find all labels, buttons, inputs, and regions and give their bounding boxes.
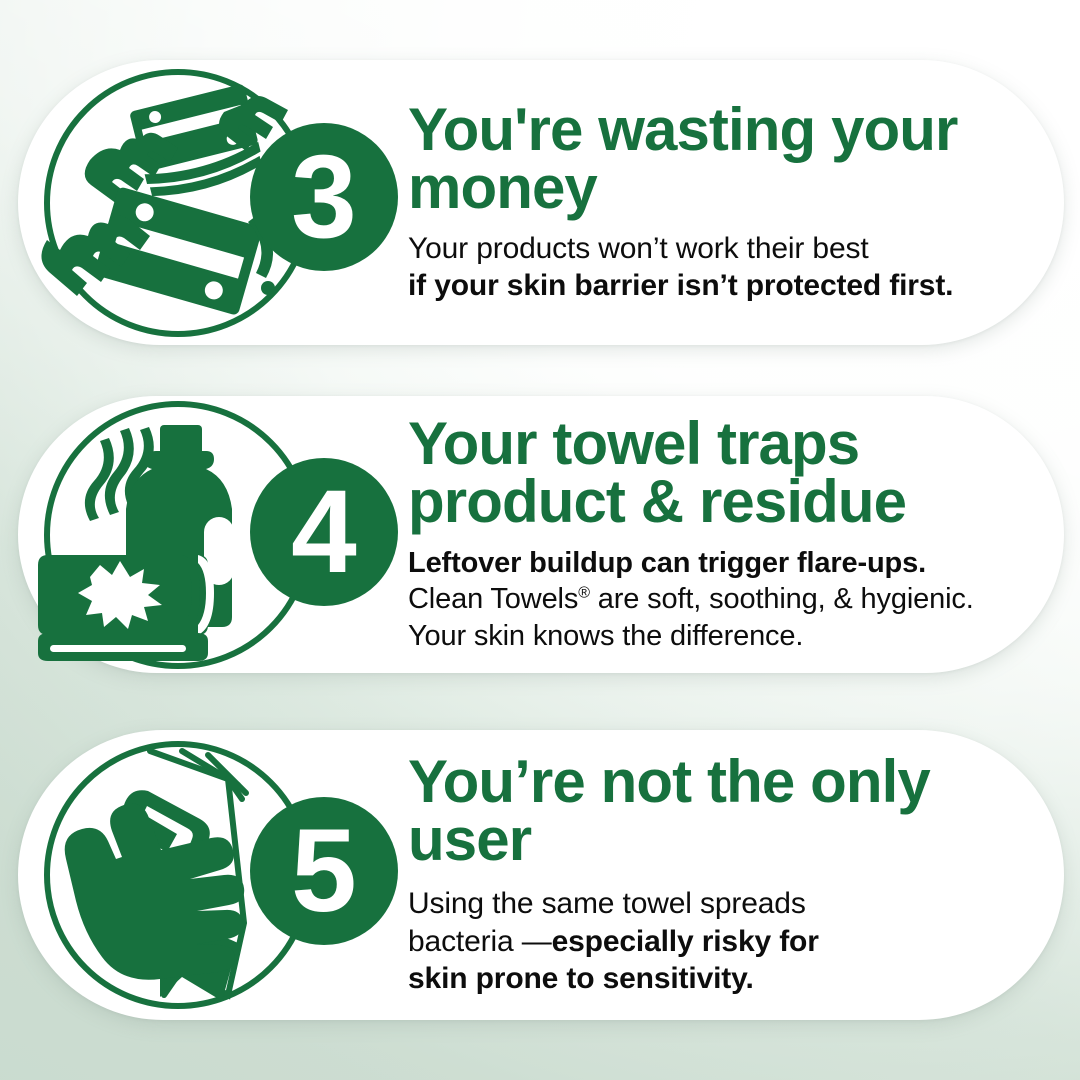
badge-number-3: 3 [291,131,357,263]
card-5-heading: You’re not the only user [408,753,1024,869]
registered-mark: ® [578,585,590,602]
heading-line: product & residue [408,468,906,535]
body-line-regular: bacteria — [408,925,552,958]
info-card-4: 4 Your towel traps product & residue Lef… [18,396,1064,673]
hands-dropping-money-icon: 3 [32,64,398,342]
body-line: Your products won’t work their best [408,231,1024,268]
body-line: Clean Towels® are soft, soothing, & hygi… [408,581,1024,618]
body-line: Leftover buildup can trigger flare-ups. [408,545,1024,582]
card-5-content: You’re not the only user Using the same … [398,753,1064,997]
medallion-5: 5 [32,730,398,1020]
medallion-3: 3 [32,60,398,345]
body-line: bacteria —especially risky for [408,923,1024,960]
card-3-content: You're wasting your money Your products … [398,101,1064,305]
heading-line: You're wasting [408,96,815,163]
card-4-body: Leftover buildup can trigger flare-ups. … [408,545,1024,655]
info-card-5: 5 You’re not the only user Using the sam… [18,730,1064,1020]
card-4-heading: Your towel traps product & residue [408,415,1024,531]
heading-line: You’re not [408,748,691,815]
detergent-bottle-stained-towel-odor-icon: 4 [32,399,398,671]
card-5-body: Using the same towel spreads bacteria —e… [408,885,1024,997]
body-line-post: are soft, soothing, & hygienic. [590,583,974,615]
badge-number-4: 4 [291,466,357,598]
infographic-canvas: 3 You're wasting your money Your product… [0,0,1080,1080]
heading-line: Your towel traps [408,410,859,477]
body-line: skin prone to sensitivity. [408,960,1024,997]
body-line: Your skin knows the difference. [408,618,1024,655]
card-4-content: Your towel traps product & residue Lefto… [398,415,1064,655]
badge-number-5: 5 [291,805,357,937]
body-line-bold: especially risky for [552,925,819,958]
body-line: if your skin barrier isn’t protected fir… [408,268,1024,305]
medallion-4: 4 [32,396,398,673]
card-3-heading: You're wasting your money [408,101,1024,217]
two-hands-shared-towel-icon: 5 [32,733,398,1017]
body-line: Using the same towel spreads [408,885,1024,922]
body-line-pre: Clean Towels [408,583,578,615]
info-card-3: 3 You're wasting your money Your product… [18,60,1064,345]
card-3-body: Your products won’t work their best if y… [408,231,1024,304]
